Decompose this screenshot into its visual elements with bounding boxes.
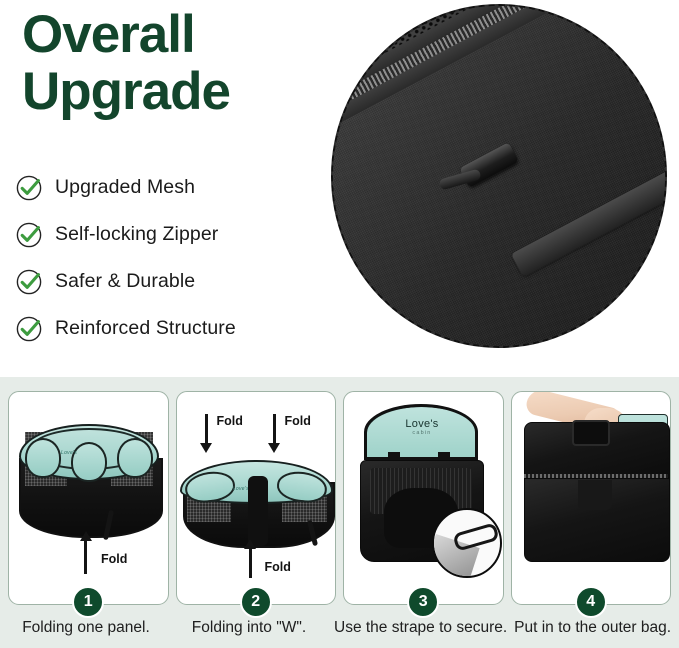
feature-label: Self-locking Zipper	[55, 223, 218, 246]
step-caption: Folding into "W".	[171, 615, 327, 641]
brand-sub: cabin	[392, 430, 452, 436]
step-4-illustration: 5	[512, 392, 671, 604]
step-caption: Folding one panel.	[8, 615, 164, 641]
feature-item: Safer & Durable	[14, 258, 324, 305]
top-section: Overall Upgrade Upgraded Mesh	[0, 0, 679, 377]
feature-label: Reinforced Structure	[55, 317, 236, 340]
check-circle-icon	[14, 220, 44, 250]
feature-item: Upgraded Mesh	[14, 164, 324, 211]
fold-label: Fold	[265, 560, 291, 574]
step-3-illustration: Love's cabin	[344, 392, 503, 604]
brand-logo: Love's cabin	[392, 418, 452, 436]
playpen-panel	[117, 438, 153, 478]
feature-item: Reinforced Structure	[14, 305, 324, 352]
playpen-logo: Love's	[61, 450, 77, 456]
feature-label: Safer & Durable	[55, 270, 195, 293]
feature-list: Upgraded Mesh Self-locking Zipper	[14, 164, 324, 352]
step-card-3: Love's cabin 3	[343, 391, 504, 605]
step-badge-4: 4	[575, 586, 607, 618]
step-card-row: Love's Fold 1 Fold Fold	[8, 391, 671, 605]
fold-label: Fold	[101, 552, 127, 566]
headline-line-1: Overall	[22, 5, 195, 64]
step-badge-2: 2	[240, 586, 272, 618]
bag-handle-base	[578, 480, 612, 510]
fold-label: Fold	[217, 414, 243, 428]
product-infographic: Overall Upgrade Upgraded Mesh	[0, 0, 679, 648]
step-caption: Put in to the outer bag.	[514, 615, 671, 641]
fold-arrow-up	[84, 540, 87, 574]
check-circle-icon	[14, 314, 44, 344]
step-2-illustration: Fold Fold Love's	[177, 392, 336, 604]
headline-line-2: Upgrade	[22, 63, 322, 120]
step-badge-1: 1	[72, 586, 104, 618]
step-caption: Use the strape to secure.	[334, 615, 507, 641]
step-caption-row: Folding one panel. Folding into "W". Use…	[8, 615, 671, 641]
fold-arrow-down	[273, 414, 276, 444]
brand-name: Love's	[392, 418, 452, 430]
step-card-1: Love's Fold 1	[8, 391, 169, 605]
playpen-logo: Love's	[233, 486, 249, 492]
playpen-center-crease	[248, 476, 269, 546]
fold-arrow-up	[249, 548, 252, 578]
check-circle-icon	[14, 267, 44, 297]
check-circle-icon	[14, 173, 44, 203]
playpen-open-graphic: Love's	[19, 424, 159, 542]
playpen-w-fold-graphic: Love's	[183, 454, 331, 546]
bag-handle	[572, 420, 610, 446]
hero-photo-wrapper	[331, 4, 671, 352]
playpen-panel	[25, 438, 61, 478]
photo-inner	[331, 4, 667, 348]
step-card-4: 5 4	[511, 391, 672, 605]
feature-item: Self-locking Zipper	[14, 211, 324, 258]
page-title: Overall Upgrade	[22, 6, 322, 120]
step-badge-3: 3	[407, 586, 439, 618]
step-1-illustration: Love's Fold	[9, 392, 168, 604]
mesh-zipper-closeup-photo	[331, 4, 667, 348]
playpen-panel-folding	[71, 442, 107, 482]
step-card-2: Fold Fold Love's	[176, 391, 337, 605]
strap-detail-inset	[432, 508, 502, 578]
feature-label: Upgraded Mesh	[55, 176, 195, 199]
fold-label: Fold	[285, 414, 311, 428]
folding-steps-section: Love's Fold 1 Fold Fold	[0, 377, 679, 648]
fold-arrow-down	[205, 414, 208, 444]
